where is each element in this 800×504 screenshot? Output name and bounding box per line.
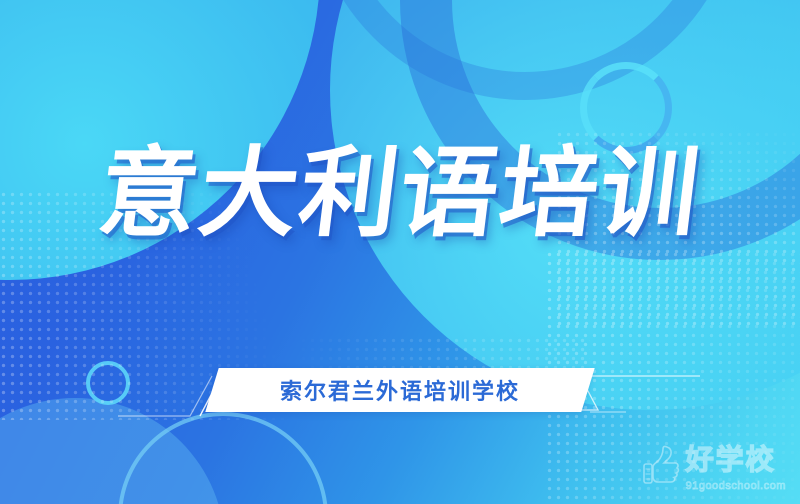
thumbs-up-icon <box>642 443 684 487</box>
headline-container: 意大利语培训 <box>0 144 800 242</box>
promo-banner: 意大利语培训 索尔君兰外语培训学校 好学校 91goodschool.com <box>0 0 800 504</box>
subtitle-text: 索尔君兰外语培训学校 <box>212 368 588 412</box>
watermark-brand: 好学校 <box>686 438 776 478</box>
subtitle-banner: 索尔君兰外语培训学校 <box>0 362 800 422</box>
outline-ring-bottom-left-icon <box>118 412 328 504</box>
page-title: 意大利语培训 <box>94 144 706 242</box>
watermark-text-block: 好学校 91goodschool.com <box>686 438 786 492</box>
watermark-url: 91goodschool.com <box>686 480 786 492</box>
arc-ring-top-right-secondary-icon <box>310 0 740 100</box>
watermark: 好学校 91goodschool.com <box>642 438 786 492</box>
